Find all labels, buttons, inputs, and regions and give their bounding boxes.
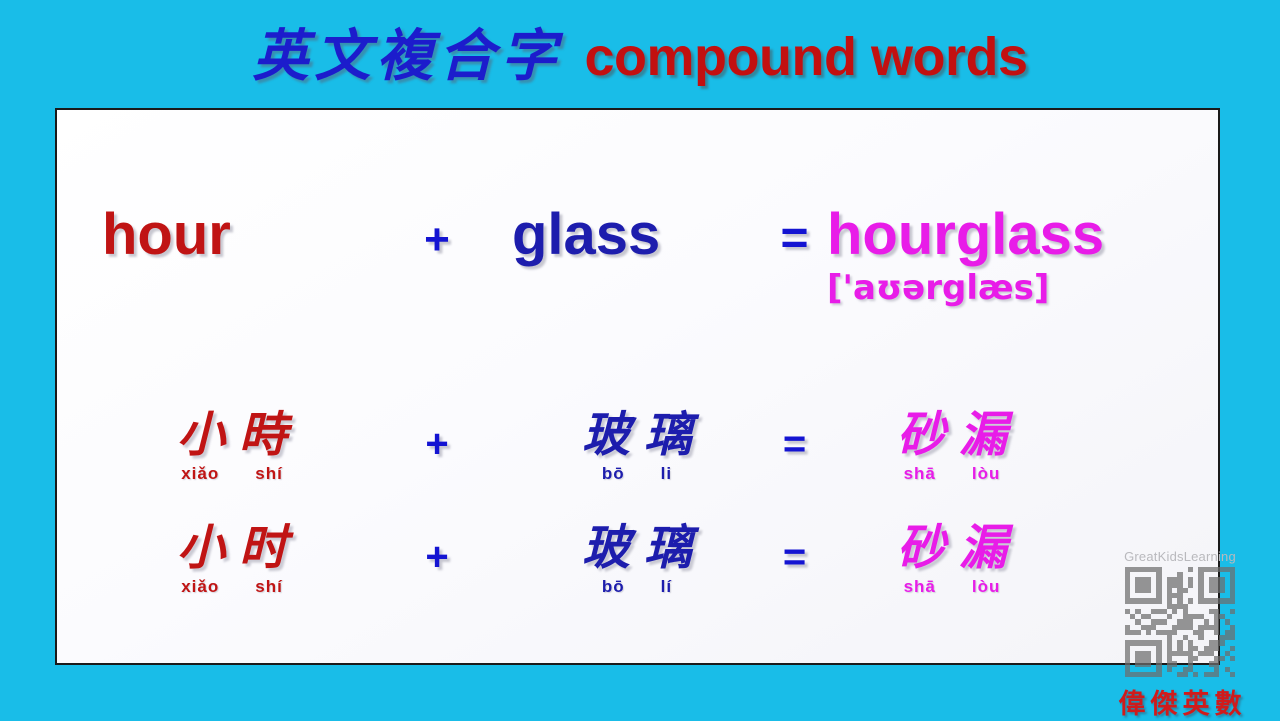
traditional-term-middle: 玻璃 bō li bbox=[512, 410, 762, 484]
simplified-equals-operator: = bbox=[762, 523, 827, 579]
pinyin-syllable: shí bbox=[255, 577, 283, 597]
content-panel: hour + glass = hourglass ['aʊərglæs] 小時 … bbox=[55, 108, 1220, 665]
simplified-plus-operator: + bbox=[362, 523, 512, 579]
pinyin-syllable: shā bbox=[904, 577, 936, 597]
traditional-plus-operator: + bbox=[362, 410, 512, 466]
pinyin-syllable: xiǎo bbox=[181, 464, 219, 484]
equation-row-simplified: 小时 xiǎo shí + 玻璃 bō lí = 砂漏 shā lòu bbox=[102, 523, 1172, 597]
pinyin-boli-traditional: bō li bbox=[602, 464, 672, 484]
hanzi-shalou-simplified: 砂漏 bbox=[883, 523, 1021, 573]
pinyin-syllable: lòu bbox=[972, 464, 1001, 484]
hanzi-boli-simplified: 玻璃 bbox=[568, 523, 706, 573]
equals-icon: = bbox=[783, 410, 806, 466]
watermark-label: GreatKidsLearning bbox=[1124, 550, 1236, 563]
pinyin-syllable: lí bbox=[661, 577, 672, 597]
pinyin-xiaoshi-simplified: xiǎo shí bbox=[181, 577, 283, 597]
title-chinese: 英文複合字 bbox=[253, 29, 563, 85]
english-plus-operator: + bbox=[362, 215, 512, 265]
pinyin-xiaoshi-traditional: xiǎo shí bbox=[181, 464, 283, 484]
qr-code-icon bbox=[1125, 567, 1235, 677]
pinyin-syllable: li bbox=[661, 464, 672, 484]
plus-icon: + bbox=[425, 523, 448, 579]
watermark-block: GreatKidsLearning 偉傑英數 bbox=[1090, 550, 1270, 720]
simplified-term-result: 砂漏 shā lòu bbox=[827, 523, 1077, 597]
pinyin-syllable: xiǎo bbox=[181, 577, 219, 597]
simplified-term-left: 小时 xiǎo shí bbox=[102, 523, 362, 597]
english-term-result: hourglass ['aʊərglæs] bbox=[827, 205, 1104, 308]
pinyin-syllable: shā bbox=[904, 464, 936, 484]
word-hour: hour bbox=[102, 202, 231, 267]
pinyin-syllable: lòu bbox=[972, 577, 1001, 597]
pinyin-syllable: bō bbox=[602, 464, 625, 484]
watermark-chinese: 偉傑英數 bbox=[1114, 682, 1247, 721]
pinyin-syllable: bō bbox=[602, 577, 625, 597]
english-term-middle: glass bbox=[512, 205, 762, 266]
english-equals-operator: = bbox=[762, 211, 827, 266]
equation-row-traditional: 小時 xiǎo shí + 玻璃 bō li = 砂漏 shā lòu bbox=[102, 410, 1172, 484]
word-glass: glass bbox=[512, 202, 660, 267]
hanzi-xiaoshi-simplified: 小时 bbox=[163, 523, 301, 573]
hanzi-xiaoshi-traditional: 小時 bbox=[163, 410, 301, 460]
hanzi-boli-traditional: 玻璃 bbox=[568, 410, 706, 460]
plus-icon: + bbox=[425, 410, 448, 466]
title-english: compound words bbox=[585, 30, 1028, 84]
traditional-equals-operator: = bbox=[762, 410, 827, 466]
hanzi-shalou-traditional: 砂漏 bbox=[883, 410, 1021, 460]
equals-icon: = bbox=[780, 212, 808, 265]
simplified-term-middle: 玻璃 bō lí bbox=[512, 523, 762, 597]
traditional-term-result: 砂漏 shā lòu bbox=[827, 410, 1077, 484]
ipa-pronunciation: ['aʊərglæs] bbox=[827, 268, 1104, 308]
equation-row-english: hour + glass = hourglass ['aʊərglæs] bbox=[102, 205, 1172, 308]
plus-icon: + bbox=[424, 215, 450, 264]
word-hourglass: hourglass bbox=[827, 205, 1104, 266]
english-term-left: hour bbox=[102, 205, 362, 266]
pinyin-boli-simplified: bō lí bbox=[602, 577, 672, 597]
pinyin-shalou-traditional: shā lòu bbox=[904, 464, 1001, 484]
traditional-term-left: 小時 xiǎo shí bbox=[102, 410, 362, 484]
page-title: 英文複合字 compound words bbox=[0, 14, 1280, 100]
pinyin-shalou-simplified: shā lòu bbox=[904, 577, 1001, 597]
pinyin-syllable: shí bbox=[255, 464, 283, 484]
equals-icon: = bbox=[783, 523, 806, 579]
